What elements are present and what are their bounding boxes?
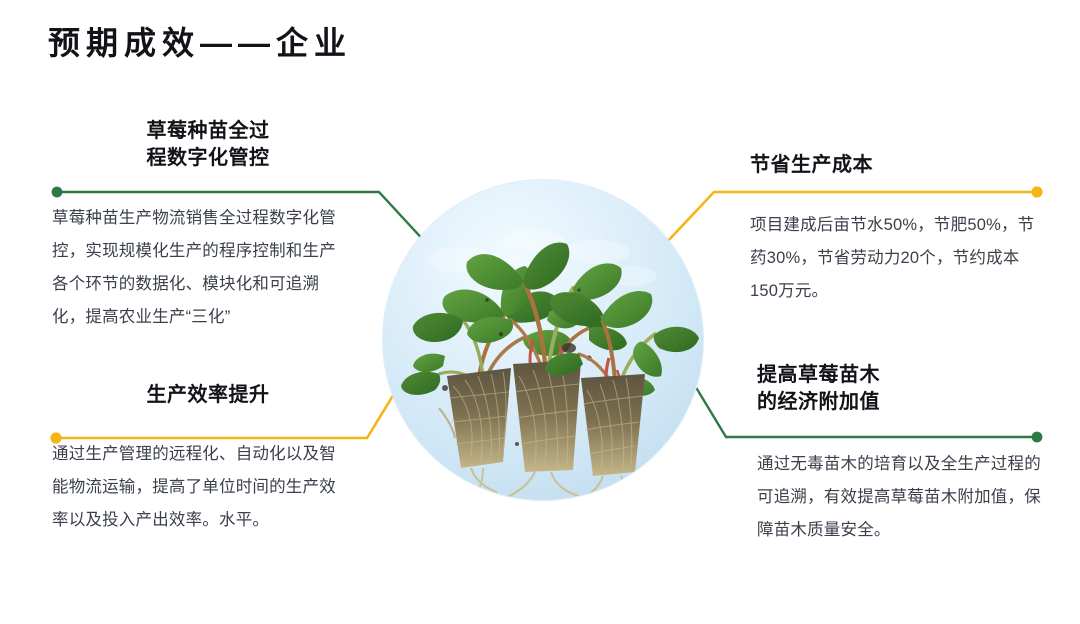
block-title-line: 提高草莓苗木 bbox=[757, 362, 1057, 389]
info-block-added-value: 提高草莓苗木 的经济附加值 通过无毒苗木的培育以及全生产过程的可追溯，有效提高草… bbox=[757, 362, 1057, 547]
info-block-digital-control: 草莓种苗全过 程数字化管控 草莓种苗生产物流销售全过程数字化管控，实现规模化生产… bbox=[52, 118, 382, 334]
block-body-cost-saving: 项目建成后亩节水50%，节肥50%，节药30%，节省劳动力20个，节约成本150… bbox=[750, 209, 1040, 308]
page-title: 预期成效——企业 bbox=[48, 20, 352, 66]
info-block-cost-saving: 节省生产成本 项目建成后亩节水50%，节肥50%，节药30%，节省劳动力20个，… bbox=[750, 152, 1050, 308]
block-title-efficiency: 生产效率提升 bbox=[52, 382, 382, 409]
block-title-line: 程数字化管控 bbox=[52, 145, 364, 172]
block-title-line: 的经济附加值 bbox=[757, 389, 1057, 416]
info-block-efficiency: 生产效率提升 通过生产管理的远程化、自动化以及智能物流运输，提高了单位时间的生产… bbox=[52, 382, 382, 537]
block-title-line: 节省生产成本 bbox=[750, 152, 1050, 179]
block-body-digital-control: 草莓种苗生产物流销售全过程数字化管控，实现规模化生产的程序控制和生产各个环节的数… bbox=[52, 202, 352, 334]
block-title-line: 草莓种苗全过 bbox=[52, 118, 364, 145]
block-body-efficiency: 通过生产管理的远程化、自动化以及智能物流运输，提高了单位时间的生产效率以及投入产… bbox=[52, 438, 352, 537]
block-title-digital-control: 草莓种苗全过 程数字化管控 bbox=[52, 118, 382, 172]
block-title-line: 生产效率提升 bbox=[52, 382, 364, 409]
block-body-added-value: 通过无毒苗木的培育以及全生产过程的可追溯，有效提高草莓苗木附加值，保障苗木质量安… bbox=[757, 448, 1050, 547]
strawberry-seedlings-photo bbox=[383, 180, 703, 500]
block-title-added-value: 提高草莓苗木 的经济附加值 bbox=[757, 362, 1057, 416]
block-title-cost-saving: 节省生产成本 bbox=[750, 152, 1050, 179]
